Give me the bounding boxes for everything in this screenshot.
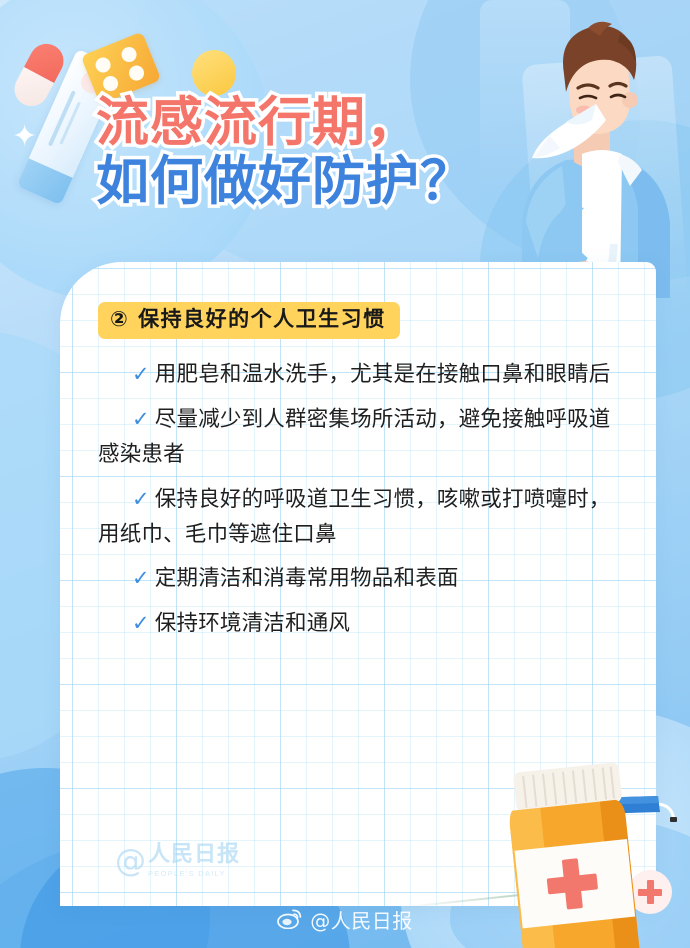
watermark-subtitle: PEOPLE'S DAILY	[148, 869, 240, 878]
poster-title: 流感流行期， 如何做好防护？	[96, 94, 474, 210]
list-item: ✓保持环境清洁和通风	[98, 606, 626, 642]
list-item-text: 保持环境清洁和通风	[155, 611, 350, 636]
yellow-dot-decoration	[192, 50, 236, 96]
list-item: ✓保持良好的呼吸道卫生习惯，咳嗽或打喷嚏时，用纸巾、毛巾等遮住口鼻	[98, 482, 626, 553]
watermark-name: 人民日报	[148, 844, 240, 866]
check-icon: ✓	[132, 487, 150, 511]
section-header-chip: ② 保持良好的个人卫生习惯	[98, 302, 400, 339]
list-item-text: 定期清洁和消毒常用物品和表面	[155, 566, 459, 591]
at-sign-icon: @	[115, 846, 146, 877]
list-item: ✓尽量减少到人群密集场所活动，避免接触呼吸道感染患者	[98, 402, 626, 473]
check-icon: ✓	[132, 611, 150, 635]
title-line-1: 流感流行期，	[96, 94, 474, 151]
list-item: ✓定期清洁和消毒常用物品和表面	[98, 561, 626, 597]
person-sneezing-illustration	[470, 8, 690, 298]
list-item: ✓用肥皂和温水洗手，尤其是在接触口鼻和眼睛后	[98, 357, 626, 393]
title-line-2: 如何做好防护？	[96, 153, 474, 210]
check-icon: ✓	[132, 362, 150, 386]
check-icon: ✓	[132, 407, 150, 431]
hygiene-tips-list: ✓用肥皂和温水洗手，尤其是在接触口鼻和眼睛后 ✓尽量减少到人群密集场所活动，避免…	[98, 357, 626, 642]
weibo-handle: @人民日报	[310, 911, 413, 931]
list-item-text: 尽量减少到人群密集场所活动，避免接触呼吸道感染患者	[98, 407, 611, 467]
list-item-text: 保持良好的呼吸道卫生习惯，咳嗽或打喷嚏时，用纸巾、毛巾等遮住口鼻	[98, 487, 611, 547]
weibo-logo-icon	[277, 907, 303, 934]
peoples-daily-watermark: @ 人民日报 PEOPLE'S DAILY	[115, 844, 240, 878]
sparkle-star-icon: ✦	[12, 122, 37, 152]
check-icon: ✓	[132, 566, 150, 590]
poster-canvas: ✦	[0, 0, 690, 948]
list-item-text: 用肥皂和温水洗手，尤其是在接触口鼻和眼睛后	[155, 362, 611, 387]
weibo-watermark: @人民日报	[0, 907, 690, 934]
